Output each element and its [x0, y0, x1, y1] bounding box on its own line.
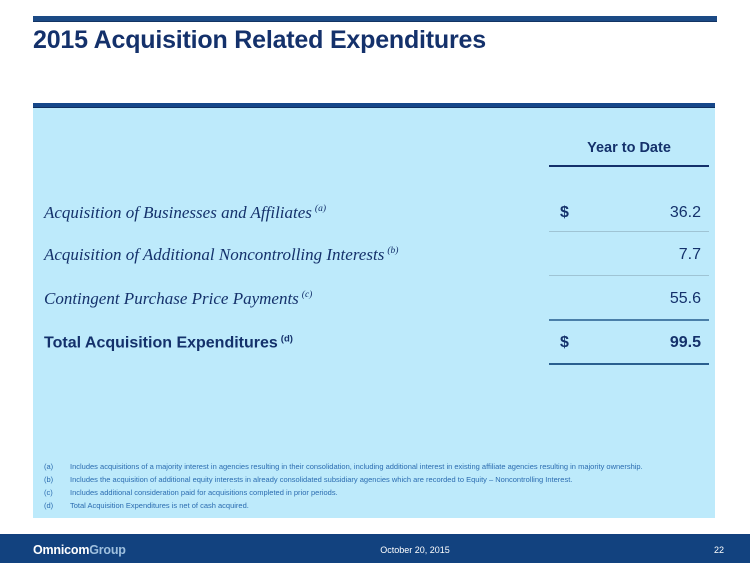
- expenditures-table-panel: Year to Date Acquisition of Businesses a…: [33, 103, 715, 518]
- footnote-marker: (b): [44, 473, 70, 486]
- table-row-total: Total Acquisition Expenditures(d) $ 99.5: [33, 321, 715, 365]
- row-footnote-ref: (d): [281, 333, 293, 344]
- row-label-text: Acquisition of Additional Noncontrolling…: [44, 245, 384, 264]
- footer-page-number: 22: [714, 545, 724, 555]
- footnote-item: (c) Includes additional consideration pa…: [44, 486, 704, 499]
- slide-footer: OmnicomGroup October 20, 2015 22: [0, 536, 750, 563]
- row-label: Contingent Purchase Price Payments(c): [44, 289, 312, 309]
- total-row-label: Total Acquisition Expenditures(d): [44, 333, 293, 352]
- footnote-marker: (d): [44, 499, 70, 512]
- panel-top-rule: [33, 103, 715, 107]
- total-value: 99.5: [549, 334, 701, 352]
- footnote-text: Total Acquisition Expenditures is net of…: [70, 499, 704, 512]
- table-column-header-year-to-date: Year to Date: [549, 140, 709, 156]
- footnote-item: (d) Total Acquisition Expenditures is ne…: [44, 499, 704, 512]
- row-footnote-ref: (b): [387, 246, 398, 256]
- title-top-rule: [33, 16, 717, 21]
- footnote-text: Includes acquisitions of a majority inte…: [70, 460, 704, 473]
- slide: 2015 Acquisition Related Expenditures Ye…: [0, 0, 750, 563]
- row-footnote-ref: (c): [302, 290, 313, 300]
- footnote-text: Includes the acquisition of additional e…: [70, 473, 704, 486]
- row-value: 36.2: [549, 204, 701, 222]
- row-footnote-ref: (a): [315, 204, 326, 214]
- footnotes-block: (a) Includes acquisitions of a majority …: [44, 460, 704, 512]
- row-label-text: Contingent Purchase Price Payments: [44, 289, 299, 308]
- total-row-label-text: Total Acquisition Expenditures: [44, 335, 278, 352]
- row-label: Acquisition of Additional Noncontrolling…: [44, 245, 398, 265]
- footnote-item: (a) Includes acquisitions of a majority …: [44, 460, 704, 473]
- table-row: Acquisition of Businesses and Affiliates…: [33, 191, 715, 235]
- footnote-text: Includes additional consideration paid f…: [70, 486, 704, 499]
- row-separator: [549, 275, 709, 276]
- footer-date: October 20, 2015: [40, 545, 750, 555]
- footnote-marker: (c): [44, 486, 70, 499]
- column-header-underline: [549, 165, 709, 167]
- total-row-bottom-rule: [549, 363, 709, 365]
- row-value: 7.7: [549, 246, 701, 264]
- row-label: Acquisition of Businesses and Affiliates…: [44, 203, 326, 223]
- page-title: 2015 Acquisition Related Expenditures: [33, 26, 723, 55]
- table-row: Acquisition of Additional Noncontrolling…: [33, 233, 715, 277]
- footnote-marker: (a): [44, 460, 70, 473]
- row-value: 55.6: [549, 290, 701, 308]
- footnote-item: (b) Includes the acquisition of addition…: [44, 473, 704, 486]
- row-label-text: Acquisition of Businesses and Affiliates: [44, 203, 312, 222]
- row-separator: [549, 231, 709, 232]
- table-row: Contingent Purchase Price Payments(c) 55…: [33, 277, 715, 321]
